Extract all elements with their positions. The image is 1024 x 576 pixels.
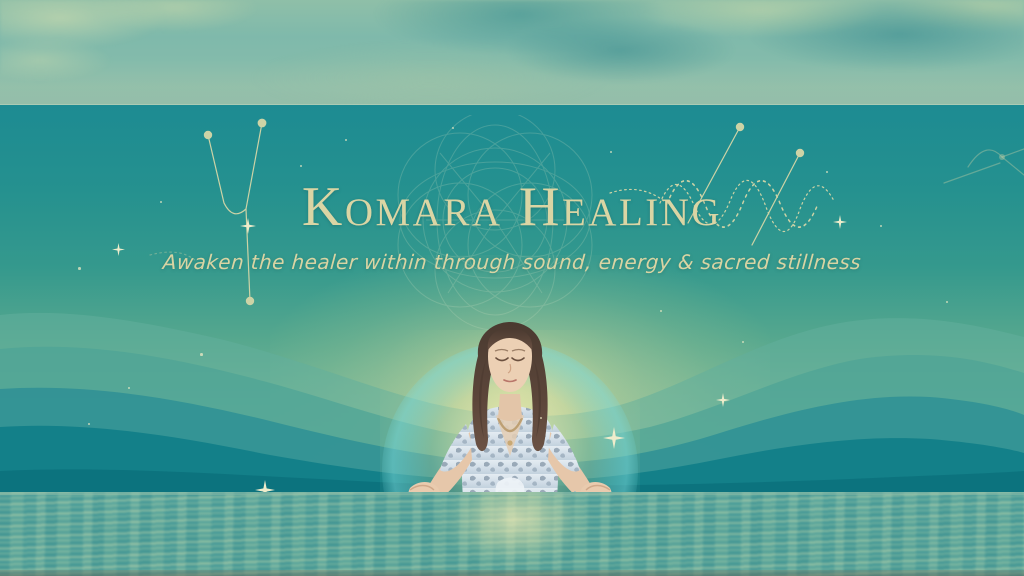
water-bottom-edge <box>0 570 1024 576</box>
page-title: Komara Healing <box>0 178 1024 236</box>
cloud-sky-strip <box>0 0 1024 105</box>
dot-star <box>826 171 828 173</box>
hero-scene <box>0 105 1024 493</box>
komara-healing-banner: Komara Healing Awaken the healer within … <box>0 0 1024 576</box>
dot-star <box>345 139 347 141</box>
water-reflection-strip <box>0 492 1024 576</box>
sky-haze <box>0 59 1024 105</box>
golden-water-reflection <box>400 492 630 576</box>
dot-star <box>300 165 302 167</box>
dot-star <box>610 151 612 153</box>
dot-star <box>452 127 454 129</box>
meditating-woman-lotus-pose <box>370 320 650 493</box>
figure-illustration <box>370 320 650 493</box>
tagline: Awaken the healer within through sound, … <box>0 249 1024 275</box>
